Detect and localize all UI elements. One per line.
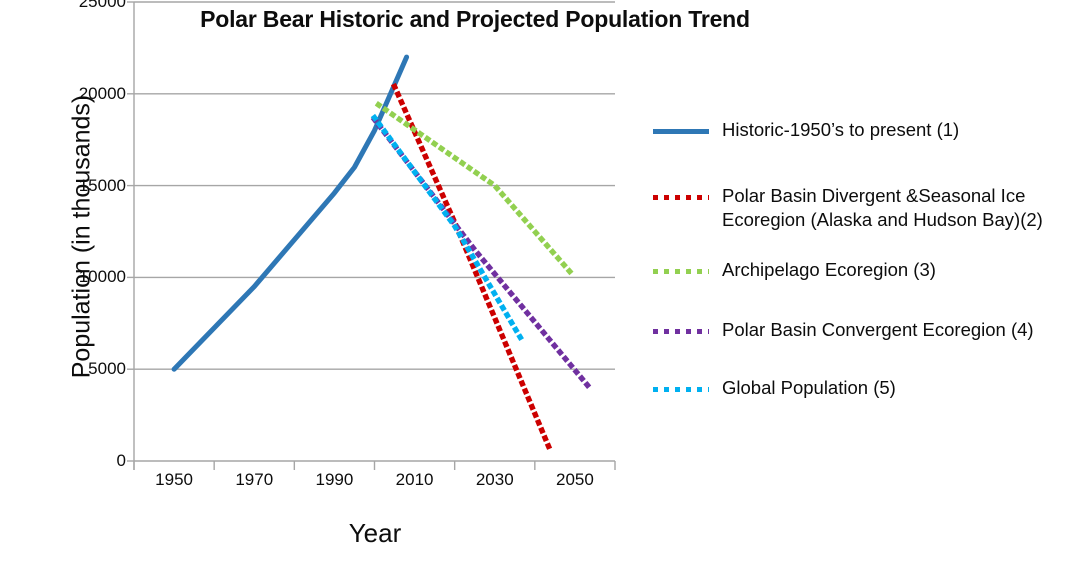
legend-item[interactable]: Historic‑1950’s to present (1)	[650, 118, 959, 142]
series-line	[174, 57, 406, 369]
legend-swatch-5	[650, 378, 712, 400]
legend-swatch-1	[650, 120, 712, 142]
legend-label: Historic‑1950’s to present (1)	[712, 118, 959, 142]
legend-swatch-4	[650, 320, 712, 342]
legend-label: Archipelago Ecoregion (3)	[712, 258, 936, 282]
legend-label: Polar Basin Convergent Ecoregion (4)	[712, 318, 1034, 342]
legend-item[interactable]: Archipelago Ecoregion (3)	[650, 258, 936, 282]
legend-label: Polar Basin Divergent &Seasonal Ice Ecor…	[712, 184, 1060, 232]
legend-label: Global Population (5)	[712, 376, 896, 400]
legend-item[interactable]: Global Population (5)	[650, 376, 896, 400]
data-series-group	[174, 57, 591, 452]
chart-container: Polar Bear Historic and Projected Popula…	[0, 0, 1067, 561]
gridlines	[134, 2, 615, 461]
legend-swatch-2	[650, 186, 712, 208]
legend-swatch-3	[650, 260, 712, 282]
series-line	[379, 105, 575, 278]
legend-item[interactable]: Polar Basin Convergent Ecoregion (4)	[650, 318, 1034, 342]
legend-item[interactable]: Polar Basin Divergent &Seasonal Ice Ecor…	[650, 184, 1060, 232]
series-line	[395, 86, 551, 451]
